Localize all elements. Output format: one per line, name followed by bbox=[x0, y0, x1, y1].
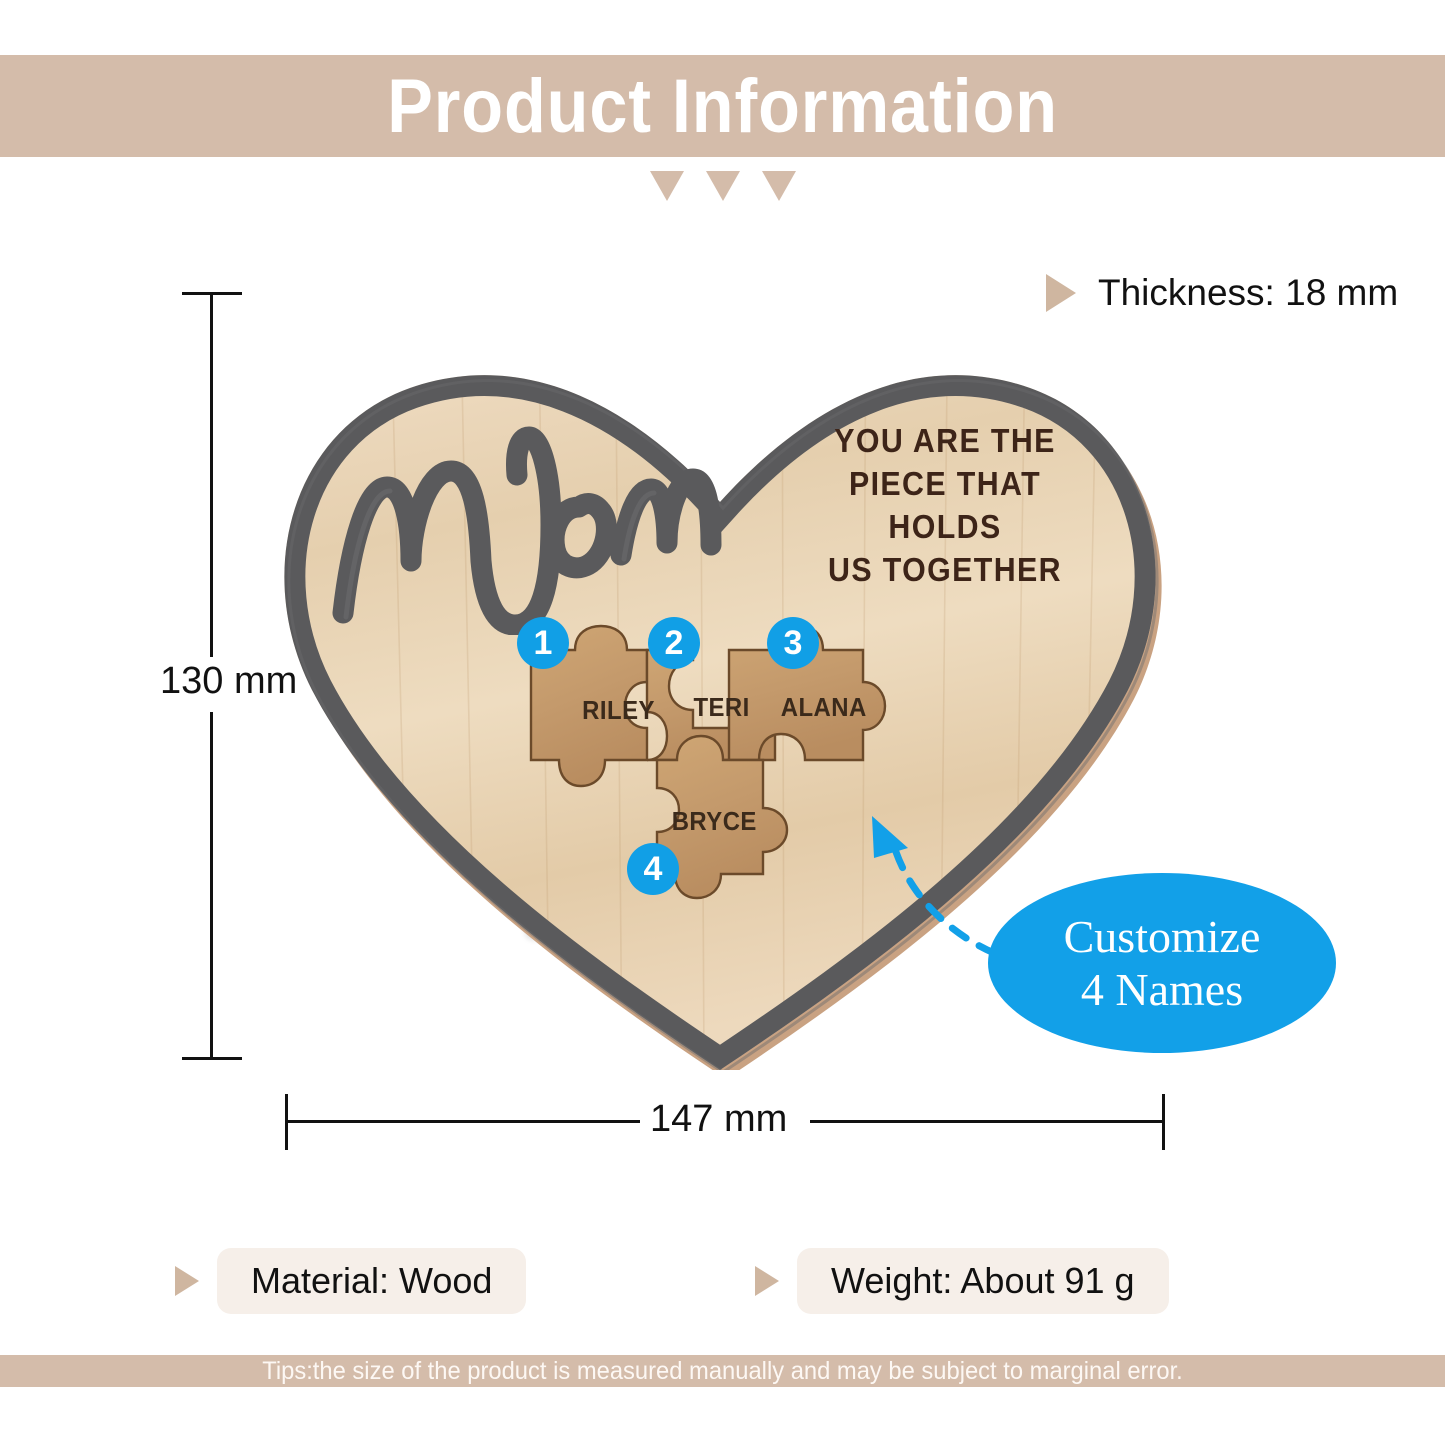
spec-weight-box: Weight: About 91 g bbox=[797, 1248, 1169, 1314]
spec-row: Material: Wood Weight: About 91 g bbox=[175, 1248, 1275, 1326]
header-banner: Product Information bbox=[0, 55, 1445, 157]
chevron-down-icon bbox=[650, 171, 684, 201]
engraved-quote: YOU ARE THE PIECE THAT HOLDS US TOGETHER bbox=[821, 420, 1069, 592]
dimension-segment-lower bbox=[210, 712, 213, 1060]
footer-tip-banner: Tips:the size of the product is measured… bbox=[0, 1355, 1445, 1387]
dimension-segment-upper bbox=[210, 292, 213, 657]
quote-line-2: PIECE THAT HOLDS bbox=[821, 463, 1069, 549]
badge-1[interactable]: 1 bbox=[517, 617, 569, 669]
puzzle-svg bbox=[515, 610, 895, 900]
chevron-divider bbox=[0, 168, 1445, 204]
spec-material-label: Material: Wood bbox=[251, 1260, 492, 1302]
mom-script-svg bbox=[315, 375, 735, 635]
footer-tip-text: Tips:the size of the product is measured… bbox=[262, 1357, 1183, 1386]
spec-weight-label: Weight: About 91 g bbox=[831, 1260, 1135, 1302]
puzzle-name-2: TERI bbox=[693, 692, 749, 723]
puzzle-name-3: ALANA bbox=[781, 692, 867, 723]
puzzle-name-4: BRYCE bbox=[672, 806, 757, 837]
spec-material: Material: Wood bbox=[175, 1248, 526, 1314]
chevron-down-icon bbox=[762, 171, 796, 201]
badge-2[interactable]: 2 bbox=[648, 617, 700, 669]
customize-callout: Customize 4 Names bbox=[988, 873, 1336, 1053]
mom-script-lettering bbox=[315, 375, 735, 635]
dimension-segment-right bbox=[810, 1120, 1165, 1123]
callout-line-1: Customize bbox=[1064, 910, 1261, 963]
callout-line-2: 4 Names bbox=[1081, 963, 1243, 1016]
dimension-segment-left bbox=[285, 1120, 640, 1123]
page-title: Product Information bbox=[387, 63, 1058, 150]
puzzle-piece-group: RILEY TERI ALANA BRYCE bbox=[515, 610, 895, 900]
triangle-bullet-icon bbox=[755, 1266, 779, 1296]
chevron-down-icon bbox=[706, 171, 740, 201]
quote-line-1: YOU ARE THE bbox=[821, 420, 1069, 463]
badge-4[interactable]: 4 bbox=[627, 843, 679, 895]
width-dimension-label: 147 mm bbox=[650, 1098, 787, 1141]
arrowhead-icon bbox=[872, 816, 908, 858]
spec-material-box: Material: Wood bbox=[217, 1248, 526, 1314]
triangle-bullet-icon bbox=[175, 1266, 199, 1296]
dimension-cap-right bbox=[1162, 1094, 1165, 1150]
quote-line-3: US TOGETHER bbox=[821, 549, 1069, 592]
puzzle-name-1: RILEY bbox=[582, 695, 655, 726]
dimension-cap-bottom bbox=[182, 1057, 242, 1060]
badge-3[interactable]: 3 bbox=[767, 617, 819, 669]
spec-weight: Weight: About 91 g bbox=[755, 1248, 1169, 1314]
